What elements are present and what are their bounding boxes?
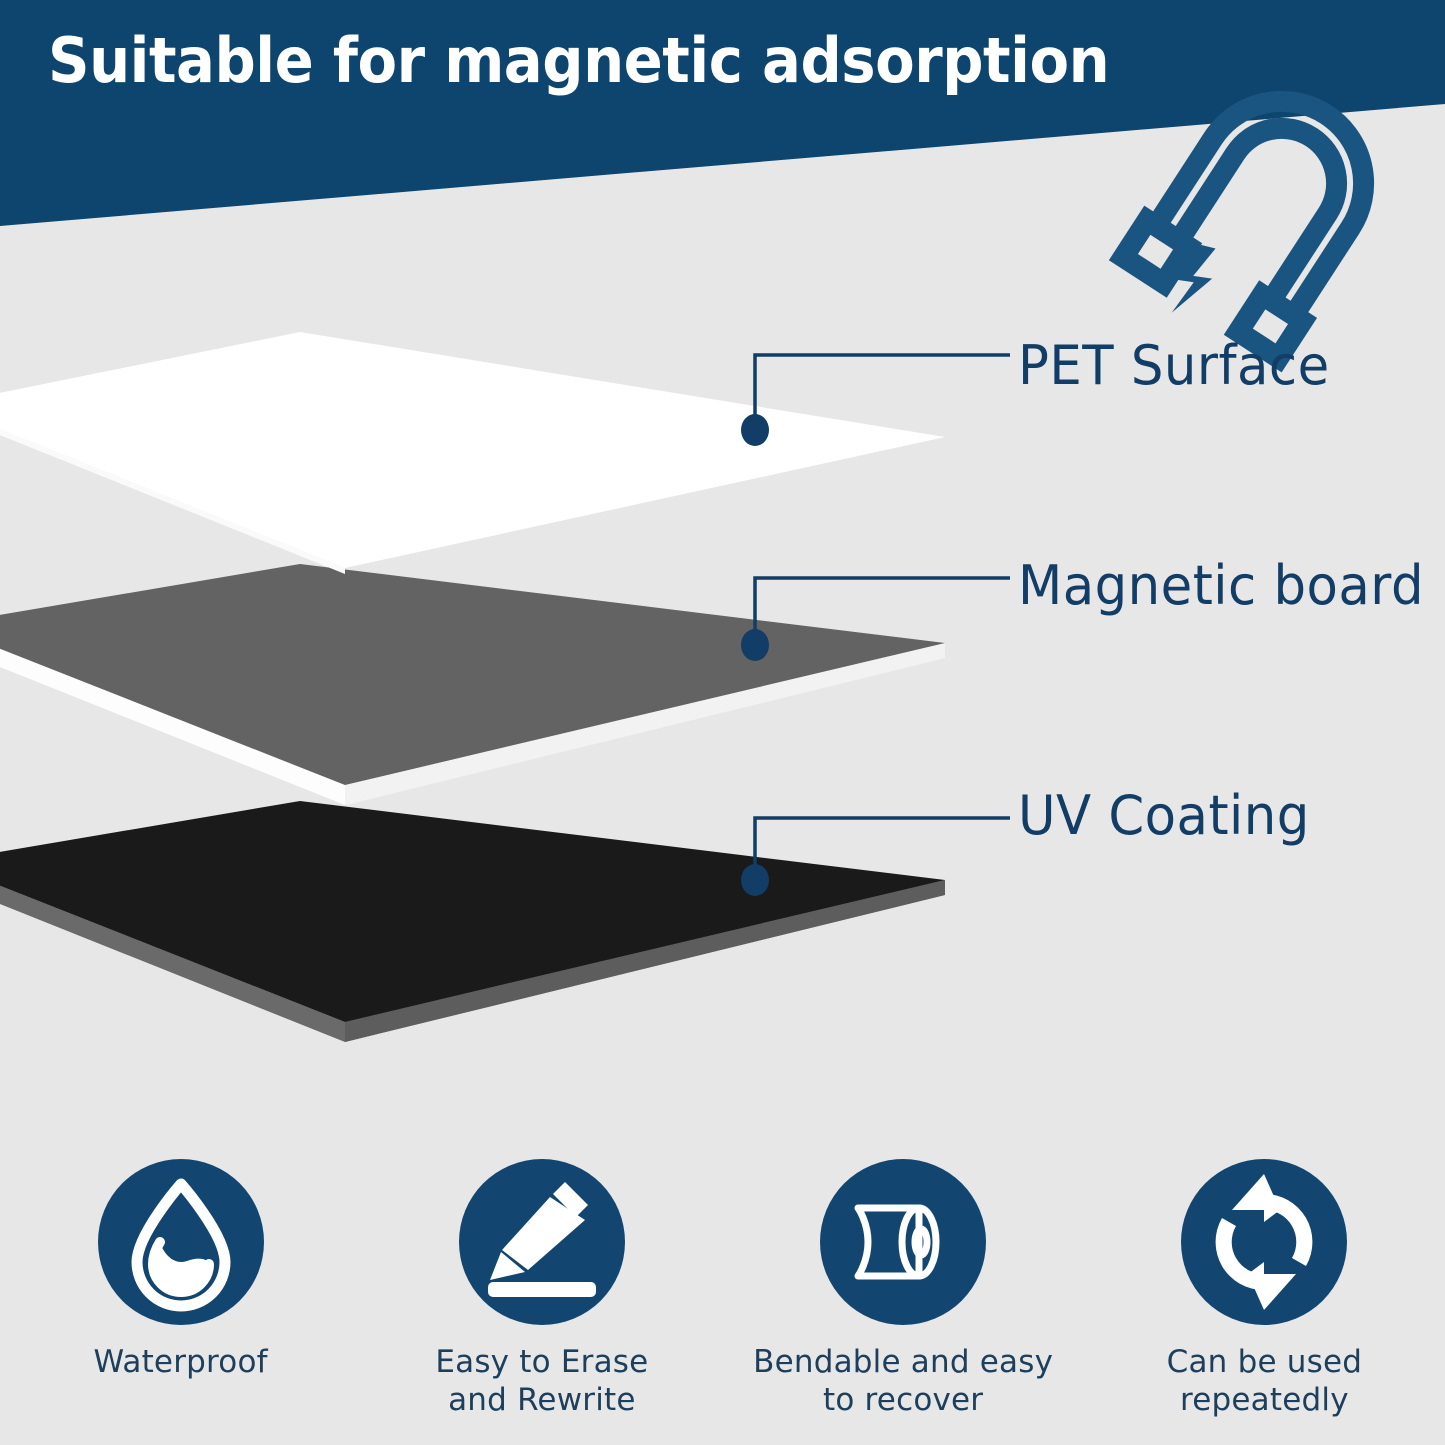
feature-caption: Bendable and easy to recover: [753, 1344, 1053, 1420]
erase-badge: [458, 1158, 626, 1326]
callout-label-uv-coating: UV Coating: [1018, 784, 1310, 847]
feature-caption: Easy to Erase and Rewrite: [435, 1344, 648, 1420]
reusable-badge: [1180, 1158, 1348, 1326]
callout-label-magnetic-board: Magnetic board: [1018, 554, 1424, 617]
callout-dot-pet: [741, 414, 769, 446]
layer-uv-coating: [0, 801, 945, 1042]
uv-layer-top: [0, 801, 945, 1022]
callout-dot-magnetic: [741, 629, 769, 661]
infographic-page: Suitable for magnetic adsorption: [0, 0, 1445, 1445]
feature-easy-to-erase: Easy to Erase and Rewrite: [361, 1150, 722, 1445]
bendable-badge: [819, 1158, 987, 1326]
pet-layer-top: [0, 332, 945, 568]
magnetic-layer-top: [0, 564, 945, 785]
feature-reusable: Can be used repeatedly: [1084, 1150, 1445, 1445]
layer-magnetic-board: [0, 564, 945, 805]
layer-pet-surface: [0, 332, 945, 574]
callout-dot-uv: [741, 864, 769, 896]
waterproof-badge: [97, 1158, 265, 1326]
feature-row: Waterproof: [0, 1150, 1445, 1445]
feature-caption: Waterproof: [94, 1344, 268, 1382]
callout-label-pet-surface: PET Surface: [1018, 334, 1330, 397]
feature-waterproof: Waterproof: [0, 1150, 361, 1445]
feature-bendable: Bendable and easy to recover: [723, 1150, 1084, 1445]
feature-caption: Can be used repeatedly: [1167, 1344, 1363, 1420]
